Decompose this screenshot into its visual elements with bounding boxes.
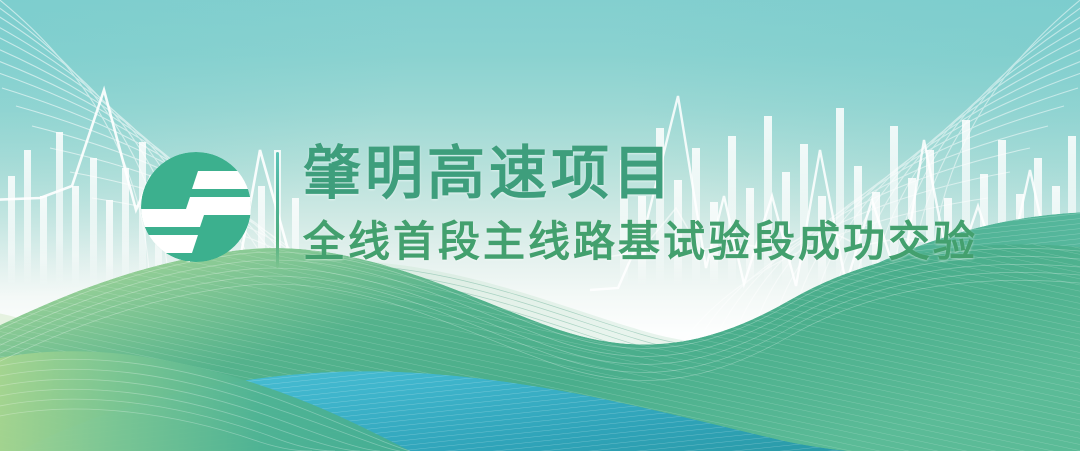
page-subtitle: 全线首段主线路基试验段成功交验 [303,219,978,265]
title-divider-bar [276,152,279,268]
project-logo [140,145,252,271]
project-banner: 肇明高速项目 全线首段主线路基试验段成功交验 [0,0,1080,451]
page-title: 肇明高速项目 [303,143,978,205]
circular-road-emblem-icon [140,145,252,271]
banner-content: 肇明高速项目 全线首段主线路基试验段成功交验 [0,0,1080,451]
title-block: 肇明高速项目 全线首段主线路基试验段成功交验 [303,143,978,265]
